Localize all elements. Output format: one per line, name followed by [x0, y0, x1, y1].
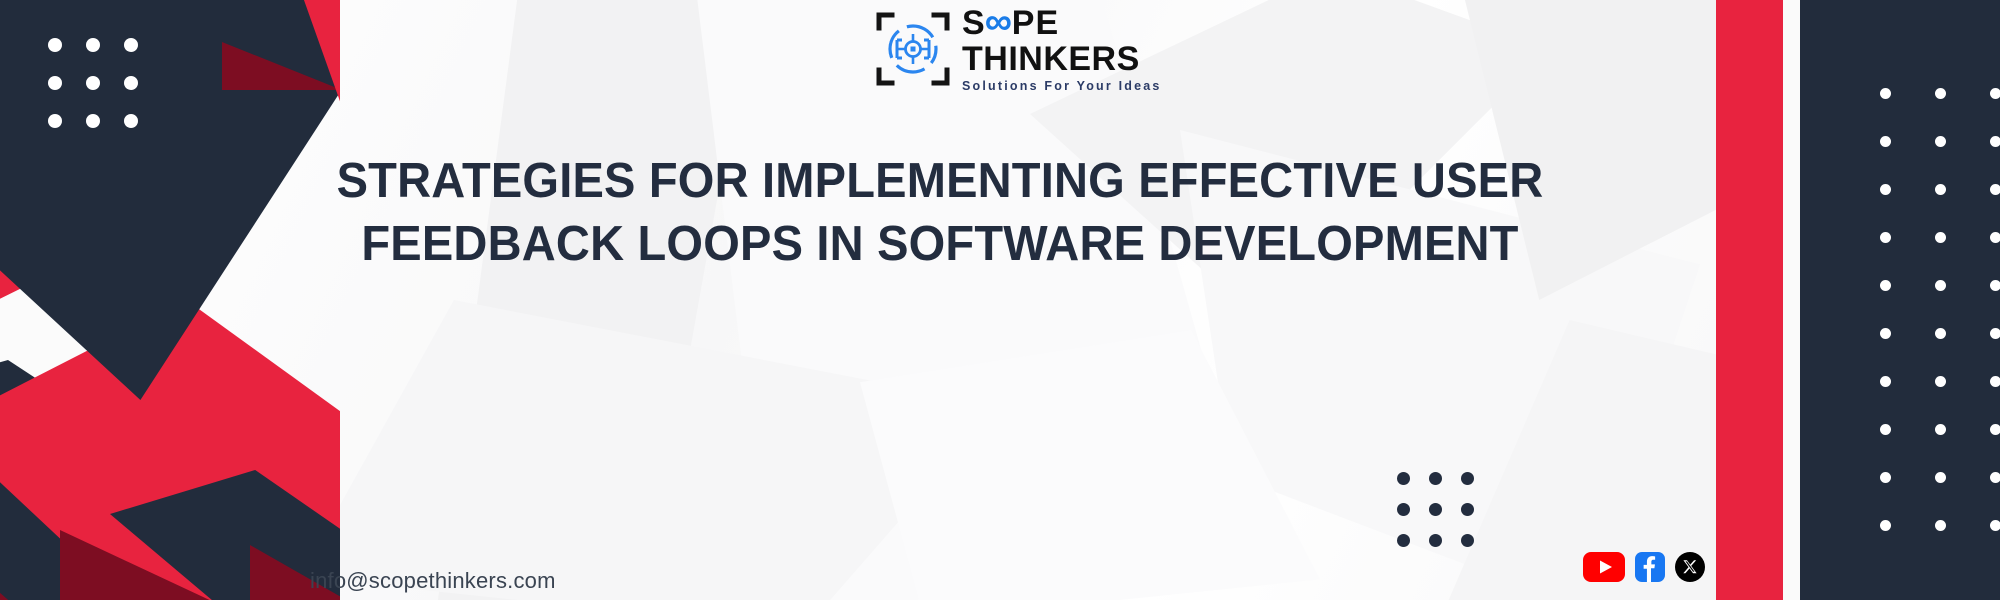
- dot: [1935, 424, 1946, 435]
- article-header-banner: S∞PE THINKERS Solutions For Your Ideas S…: [0, 0, 2000, 600]
- dot-grid-icon: [48, 38, 138, 128]
- dot: [86, 38, 100, 52]
- dot: [48, 76, 62, 90]
- dot: [1990, 184, 2000, 195]
- dot-grid-icon: [1880, 88, 2000, 531]
- dot: [124, 38, 138, 52]
- dot: [1461, 534, 1474, 547]
- dot: [1935, 472, 1946, 483]
- dot: [1880, 136, 1891, 147]
- dot: [1880, 520, 1891, 531]
- logo-scope-text: S∞PE: [962, 6, 1162, 40]
- dot: [1880, 88, 1891, 99]
- dot: [124, 76, 138, 90]
- logo-tagline: Solutions For Your Ideas: [962, 80, 1162, 93]
- dot-grid-icon: [1397, 472, 1474, 547]
- dot: [86, 76, 100, 90]
- dot: [1990, 136, 2000, 147]
- dot: [1935, 136, 1946, 147]
- dot: [1880, 376, 1891, 387]
- dot: [1461, 472, 1474, 485]
- dot: [1935, 376, 1946, 387]
- page-title: STRATEGIES FOR IMPLEMENTING EFFECTIVE US…: [326, 150, 1555, 275]
- dot: [1880, 280, 1891, 291]
- dot: [1429, 472, 1442, 485]
- logo-scope-pre: S: [962, 6, 986, 40]
- dot: [1429, 503, 1442, 516]
- dot: [1935, 232, 1946, 243]
- dot: [48, 38, 62, 52]
- logo-wordmark: S∞PE THINKERS Solutions For Your Ideas: [962, 6, 1162, 93]
- dot: [1429, 534, 1442, 547]
- dot: [1935, 520, 1946, 531]
- dot: [1935, 280, 1946, 291]
- scope-target-crosshair-icon: [876, 12, 950, 86]
- infinity-icon: ∞: [985, 9, 1013, 36]
- dot: [124, 114, 138, 128]
- dot: [1880, 184, 1891, 195]
- dot: [1880, 232, 1891, 243]
- dot: [1990, 520, 2000, 531]
- left-decorative-geometry: [0, 0, 340, 600]
- dot: [1990, 424, 2000, 435]
- dot: [1990, 280, 2000, 291]
- dot: [1990, 376, 2000, 387]
- dot: [1990, 232, 2000, 243]
- dot: [1461, 503, 1474, 516]
- dot: [1880, 328, 1891, 339]
- logo-scope-post: PE: [1012, 6, 1059, 40]
- social-links: [1583, 552, 1705, 582]
- dot: [1990, 472, 2000, 483]
- dot: [1935, 88, 1946, 99]
- white-vertical-gap: [1783, 0, 1800, 600]
- contact-email[interactable]: info@scopethinkers.com: [310, 568, 556, 594]
- dot: [1935, 328, 1946, 339]
- page-title-line-2: FEEDBACK LOOPS IN SOFTWARE DEVELOPMENT: [326, 213, 1555, 276]
- page-title-line-1: STRATEGIES FOR IMPLEMENTING EFFECTIVE US…: [326, 150, 1555, 213]
- dot: [1935, 184, 1946, 195]
- youtube-icon[interactable]: [1583, 552, 1625, 582]
- dot: [1990, 328, 2000, 339]
- brand-logo[interactable]: S∞PE THINKERS Solutions For Your Ideas: [876, 8, 1162, 90]
- dot: [1397, 472, 1410, 485]
- dot: [1397, 534, 1410, 547]
- dot: [1880, 472, 1891, 483]
- logo-thinkers-text: THINKERS: [962, 42, 1162, 76]
- dot: [1990, 88, 2000, 99]
- dot: [1880, 424, 1891, 435]
- dot: [1397, 503, 1410, 516]
- red-vertical-bar: [1716, 0, 1783, 600]
- dot: [86, 114, 100, 128]
- dot: [48, 114, 62, 128]
- facebook-icon[interactable]: [1635, 552, 1665, 582]
- x-twitter-icon[interactable]: [1675, 552, 1705, 582]
